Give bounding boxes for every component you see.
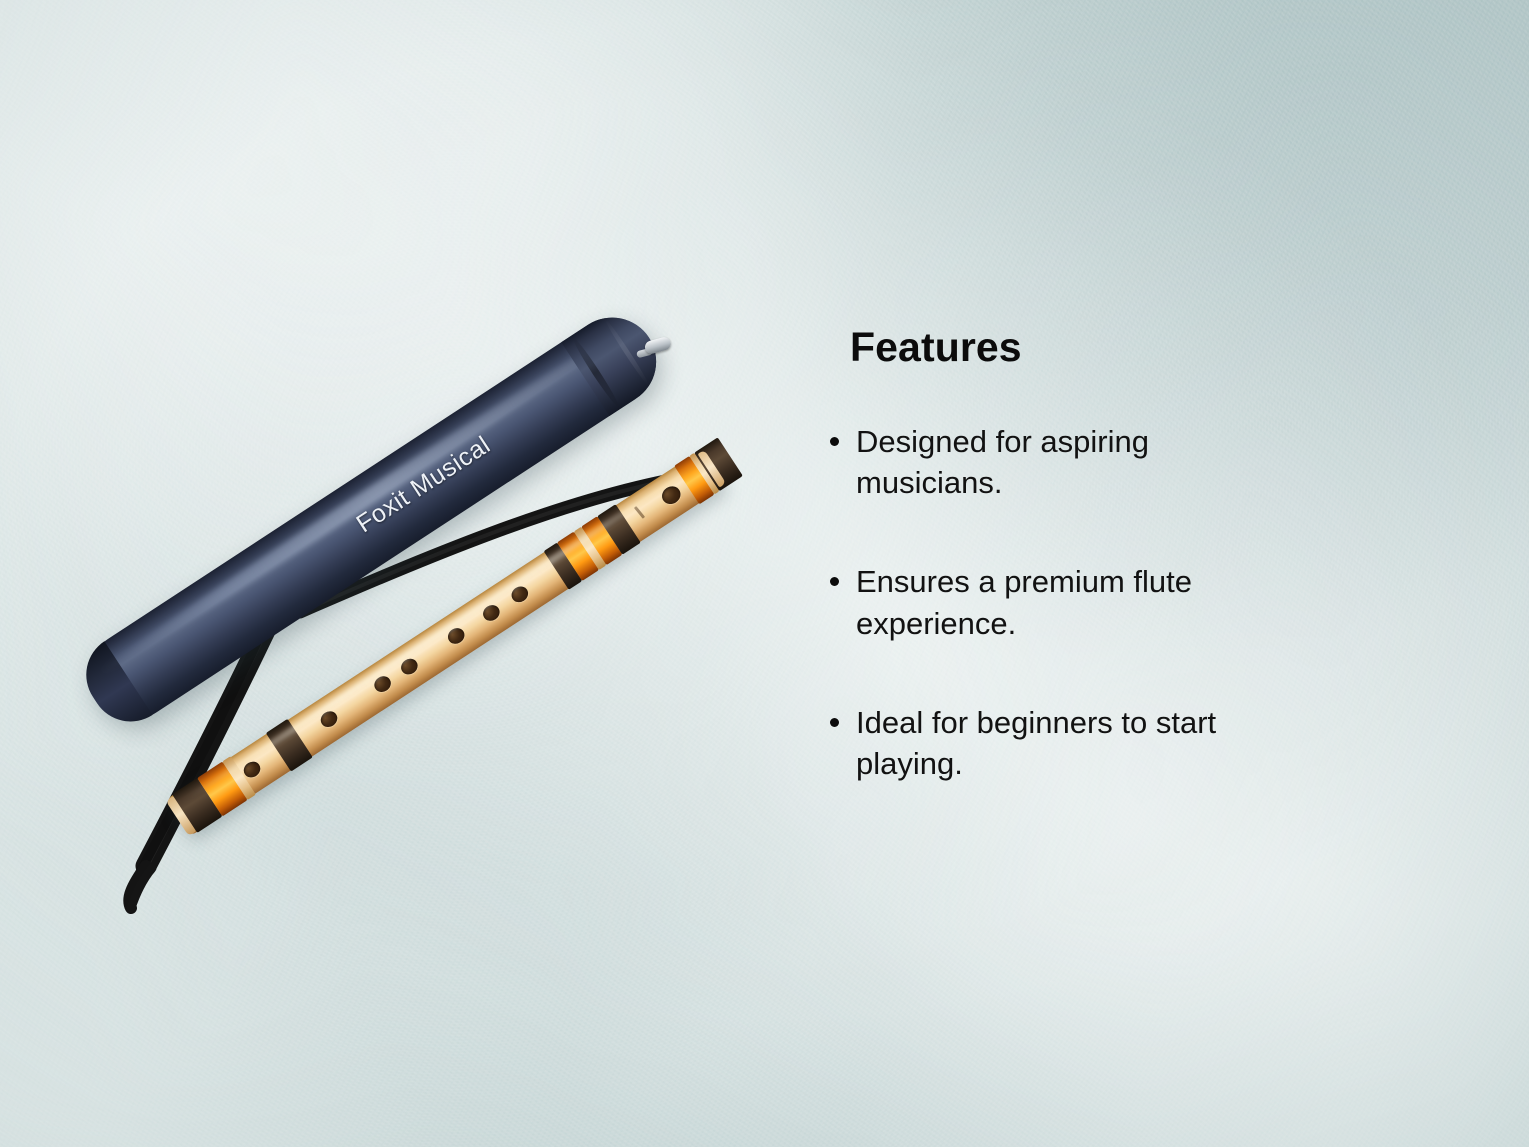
- slide-canvas: Foxit Musical: [0, 0, 1529, 1147]
- features-bullet-list: Designed for aspiring musicians. Ensures…: [828, 421, 1468, 784]
- list-item: Designed for aspiring musicians.: [828, 421, 1256, 503]
- list-item: Ideal for beginners to start playing.: [828, 702, 1256, 784]
- page-title: Features: [850, 326, 1468, 369]
- bullet-point-icon: [830, 437, 839, 446]
- list-item-text: Designed for aspiring musicians.: [856, 424, 1149, 500]
- features-text-column: Features Designed for aspiring musicians…: [828, 326, 1468, 784]
- list-item-text: Ensures a premium flute experience.: [856, 564, 1192, 640]
- product-image-bamboo-flute-with-case: Foxit Musical: [0, 0, 820, 1147]
- list-item-text: Ideal for beginners to start playing.: [856, 705, 1216, 781]
- bullet-point-icon: [830, 577, 839, 586]
- bullet-point-icon: [830, 718, 839, 727]
- carry-strap: [0, 0, 820, 1147]
- list-item: Ensures a premium flute experience.: [828, 561, 1256, 643]
